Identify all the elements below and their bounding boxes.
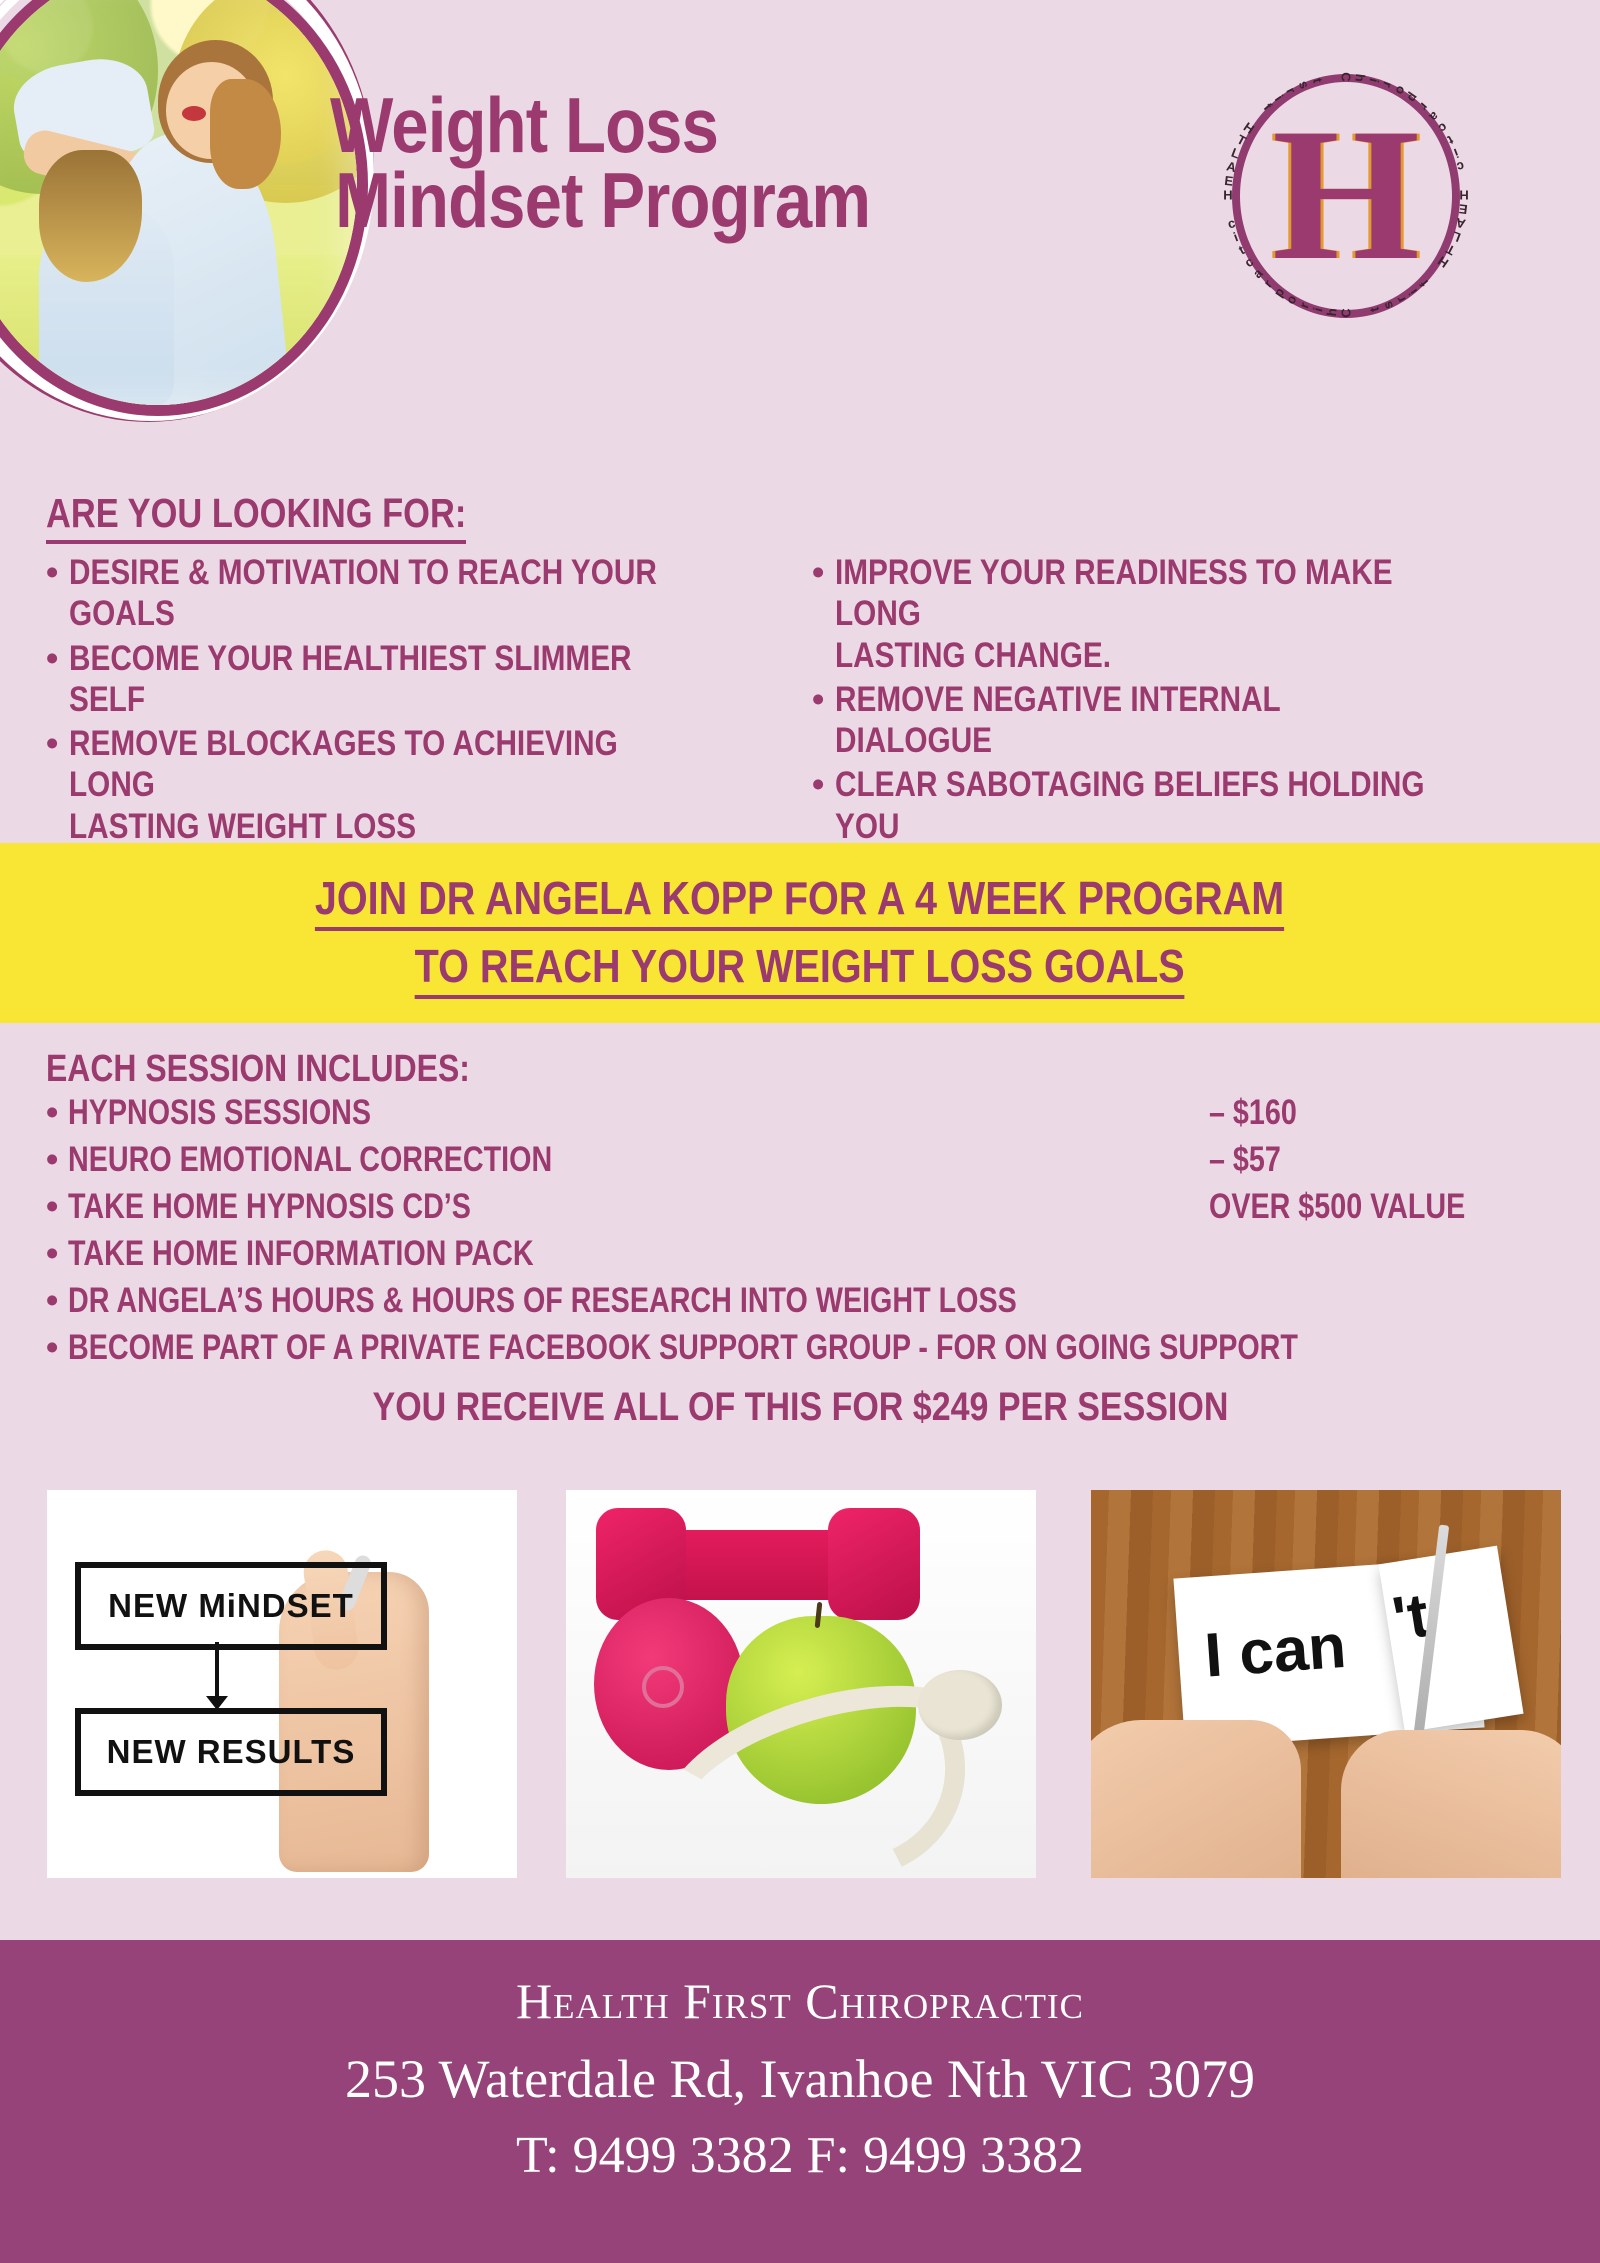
bullet-icon: •	[46, 1094, 58, 1133]
footer-address: 253 Waterdale Rd, Ivanhoe Nth VIC 3079	[0, 2048, 1600, 2110]
bullet-icon: •	[46, 1282, 58, 1321]
title-line-2: Mindset Program	[330, 163, 966, 238]
left-hand-icon	[1091, 1720, 1301, 1878]
i-cant-card-text: I can	[1202, 1611, 1348, 1692]
new-results-box: NEW RESULTS	[75, 1708, 387, 1796]
bullet-icon: •	[812, 679, 824, 762]
looking-for-item-label: DESIRE & MOTIVATION TO REACH YOUR GOALS	[69, 552, 695, 635]
includes-item: •TAKE HOME HYPNOSIS CD’S	[46, 1188, 560, 1227]
includes-item-label: TAKE HOME HYPNOSIS CD’S	[68, 1188, 471, 1227]
band-line-2-text: TO REACH YOUR WEIGHT LOSS GOALS	[415, 939, 1185, 999]
includes-row: •NEURO EMOTIONAL CORRECTION– $57	[46, 1141, 1546, 1188]
bullet-icon: •	[46, 552, 58, 635]
logo-letter-h: H	[1218, 66, 1474, 324]
includes-row: •TAKE HOME HYPNOSIS CD’SOVER $500 VALUE	[46, 1188, 1546, 1235]
health-first-chiropractic-logo: HEALTH first Chiropractic HEALTH first C…	[1218, 66, 1474, 324]
band-line-1: JOIN DR ANGELA KOPP FOR A 4 WEEK PROGRAM	[0, 871, 1600, 931]
includes-row: •BECOME PART OF A PRIVATE FACEBOOK SUPPO…	[46, 1329, 1546, 1376]
photo-cutting-i-cant: I can 't	[1091, 1490, 1561, 1878]
bullet-icon: •	[46, 1235, 58, 1274]
band-line-2: TO REACH YOUR WEIGHT LOSS GOALS	[0, 939, 1600, 999]
footer-contact: T: 9499 3382 F: 9499 3382	[0, 2126, 1600, 2185]
receive-line: YOU RECEIVE ALL OF THIS FOR $249 PER SES…	[0, 1385, 1600, 1430]
looking-for-item-label: REMOVE NEGATIVE INTERNAL DIALOGUE	[835, 679, 1444, 762]
includes-item-price: OVER $500 VALUE	[1209, 1188, 1465, 1227]
includes-item-label: NEURO EMOTIONAL CORRECTION	[68, 1141, 552, 1180]
includes-heading: EACH SESSION INCLUDES:	[46, 1048, 470, 1091]
flyer-page: Weight Loss Mindset Program HEALTH first…	[0, 0, 1600, 2263]
bullet-icon: •	[46, 1188, 58, 1227]
includes-item-label: TAKE HOME INFORMATION PACK	[68, 1235, 534, 1274]
includes-item-price: – $160	[1209, 1094, 1297, 1133]
bullet-icon: •	[46, 1329, 58, 1368]
looking-for-item-label: IMPROVE YOUR READINESS TO MAKE LONG LAST…	[835, 552, 1444, 676]
hero-photo-mother-and-child	[0, 0, 357, 405]
looking-for-item: •REMOVE BLOCKAGES TO ACHIEVING LONG LAST…	[46, 723, 806, 847]
looking-for-item: •DESIRE & MOTIVATION TO REACH YOUR GOALS	[46, 552, 806, 635]
band-line-1-text: JOIN DR ANGELA KOPP FOR A 4 WEEK PROGRAM	[315, 871, 1284, 931]
page-title: Weight Loss Mindset Program	[330, 88, 966, 238]
looking-for-heading: ARE YOU LOOKING FOR:	[46, 490, 466, 544]
looking-for-item-label: REMOVE BLOCKAGES TO ACHIEVING LONG LASTI…	[69, 723, 695, 847]
down-arrow-icon	[215, 1642, 219, 1698]
photo-dumbbells-apple-tape	[566, 1490, 1036, 1878]
includes-item: •BECOME PART OF A PRIVATE FACEBOOK SUPPO…	[46, 1329, 1568, 1368]
includes-item-label: DR ANGELA’S HOURS & HOURS OF RESEARCH IN…	[68, 1282, 1017, 1321]
looking-for-list-right: •IMPROVE YOUR READINESS TO MAKE LONG LAS…	[812, 552, 1552, 891]
header-section: Weight Loss Mindset Program HEALTH first…	[0, 0, 1600, 480]
hero-photo-circle	[0, 0, 378, 434]
includes-row: •HYPNOSIS SESSIONS– $160	[46, 1094, 1546, 1141]
includes-item-price: – $57	[1209, 1141, 1281, 1180]
title-line-1: Weight Loss	[330, 88, 966, 163]
highlight-band: JOIN DR ANGELA KOPP FOR A 4 WEEK PROGRAM…	[0, 843, 1600, 1023]
bullet-icon: •	[812, 552, 824, 676]
footer-business-name: Health First Chiropractic	[0, 1972, 1600, 2030]
photo-new-mindset-new-results: NEW MiNDSET NEW RESULTS	[47, 1490, 517, 1878]
bullet-icon: •	[46, 638, 58, 721]
includes-row: •DR ANGELA’S HOURS & HOURS OF RESEARCH I…	[46, 1282, 1546, 1329]
looking-for-item: •REMOVE NEGATIVE INTERNAL DIALOGUE	[812, 679, 1552, 762]
includes-row: •TAKE HOME INFORMATION PACK	[46, 1235, 1546, 1282]
includes-item: •TAKE HOME INFORMATION PACK	[46, 1235, 636, 1274]
photo-strip: NEW MiNDSET NEW RESULTS I can 't	[0, 1490, 1600, 1890]
new-mindset-box: NEW MiNDSET	[75, 1562, 387, 1650]
includes-item-label: HYPNOSIS SESSIONS	[68, 1094, 371, 1133]
includes-item: •NEURO EMOTIONAL CORRECTION	[46, 1141, 659, 1180]
includes-item: •HYPNOSIS SESSIONS	[46, 1094, 438, 1133]
footer-section: Health First Chiropractic 253 Waterdale …	[0, 1940, 1600, 2263]
right-hand-icon	[1341, 1730, 1561, 1878]
looking-for-item: •IMPROVE YOUR READINESS TO MAKE LONG LAS…	[812, 552, 1552, 676]
bullet-icon: •	[46, 1141, 58, 1180]
bullet-icon: •	[46, 723, 58, 847]
receive-line-text: YOU RECEIVE ALL OF THIS FOR $249 PER SES…	[372, 1385, 1228, 1430]
looking-for-item-label: BECOME YOUR HEALTHIEST SLIMMER SELF	[69, 638, 695, 721]
looking-for-item: •BECOME YOUR HEALTHIEST SLIMMER SELF	[46, 638, 806, 721]
includes-item-label: BECOME PART OF A PRIVATE FACEBOOK SUPPOR…	[68, 1329, 1298, 1368]
includes-list: •HYPNOSIS SESSIONS– $160•NEURO EMOTIONAL…	[46, 1094, 1546, 1376]
includes-item: •DR ANGELA’S HOURS & HOURS OF RESEARCH I…	[46, 1282, 1225, 1321]
